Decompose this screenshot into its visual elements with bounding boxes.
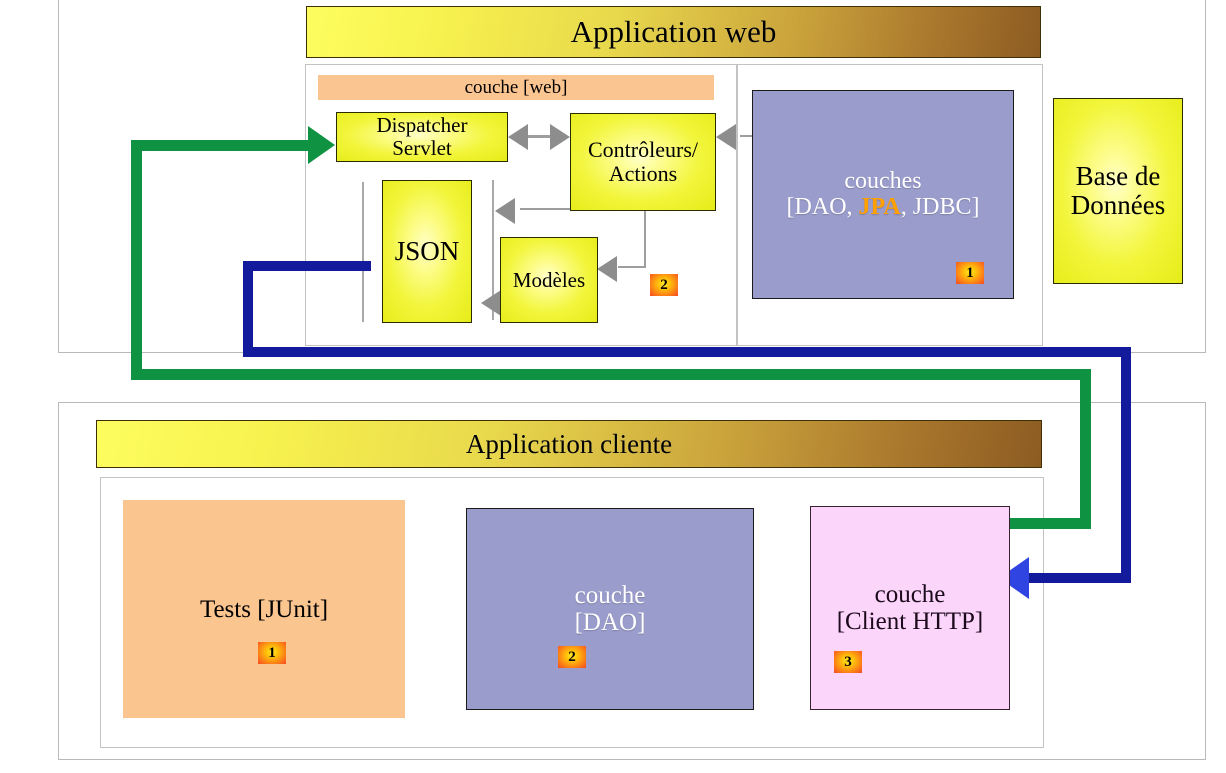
badge-tests: 1: [258, 642, 286, 664]
client-http-label-line1: couche: [875, 581, 946, 608]
client-dao-box[interactable]: couche [DAO]: [466, 508, 754, 710]
arrow-into-json-upper: [495, 198, 515, 224]
tests-junit-box[interactable]: Tests [JUnit]: [123, 500, 405, 718]
database-label-line1: Base de: [1076, 162, 1161, 191]
client-http-label-line2: [Client HTTP]: [837, 608, 984, 635]
client-application-title: Application cliente: [96, 420, 1042, 468]
blue-left-vertical: [243, 261, 253, 357]
json-left-rail: [362, 182, 364, 322]
green-bottom-horizontal: [131, 369, 1091, 380]
dispatcher-label-line1: Dispatcher: [377, 114, 468, 137]
arrow-to-controllers-from-data: [716, 124, 736, 150]
controllers-models-vertical: [644, 211, 646, 268]
tests-label: Tests [JUnit]: [200, 596, 328, 623]
blue-json-stub: [243, 261, 371, 271]
badge-client-http: 3: [834, 651, 862, 673]
data-layers-label-line1: couches: [844, 169, 921, 195]
client-dao-label-line1: couche: [575, 582, 646, 609]
jpa-accent-label: JPA: [859, 194, 901, 220]
database-label-line2: Données: [1071, 191, 1165, 220]
arrow-to-dispatcher: [508, 124, 528, 150]
client-dao-label-line2: [DAO]: [575, 609, 646, 636]
models-box[interactable]: Modèles: [500, 237, 598, 323]
dispatcher-label-line2: Servlet: [392, 137, 451, 160]
controllers-label-line1: Contrôleurs/: [588, 138, 698, 162]
dispatcher-servlet-box[interactable]: Dispatcher Servlet: [336, 112, 508, 162]
blue-into-http-box: [1026, 573, 1131, 583]
controllers-label-line2: Actions: [609, 162, 677, 186]
green-arrowhead-dispatcher: [308, 126, 335, 164]
green-right-vertical: [1080, 369, 1091, 529]
green-left-vertical: [131, 140, 142, 380]
data-layers-label-line2: [DAO, JPA, JDBC]: [787, 195, 980, 221]
arrow-to-controllers: [550, 124, 570, 150]
badge-controllers: 2: [650, 274, 678, 296]
web-layer-label: couche [web]: [318, 75, 714, 100]
arrow-into-json-lower: [481, 290, 501, 316]
json-label: JSON: [395, 237, 460, 266]
models-label: Modèles: [513, 269, 585, 292]
data-layers-suffix: , JDBC]: [901, 194, 980, 220]
web-application-title: Application web: [306, 6, 1041, 58]
blue-bottom-horizontal: [243, 347, 1131, 357]
data-layers-prefix: [DAO,: [787, 194, 859, 220]
arrow-into-models: [597, 256, 617, 282]
green-top-horizontal: [131, 140, 311, 151]
green-into-http-box: [1006, 518, 1091, 529]
blue-right-vertical: [1121, 347, 1131, 578]
diagram-canvas: Application web Application cliente couc…: [0, 0, 1226, 773]
badge-data-layers: 1: [956, 262, 984, 284]
controllers-models-horizontal: [618, 266, 646, 268]
client-http-box[interactable]: couche [Client HTTP]: [810, 506, 1010, 710]
database-box[interactable]: Base de Données: [1053, 98, 1183, 284]
badge-client-dao: 2: [558, 646, 586, 668]
controllers-actions-box[interactable]: Contrôleurs/ Actions: [570, 113, 716, 211]
json-box[interactable]: JSON: [382, 180, 472, 323]
